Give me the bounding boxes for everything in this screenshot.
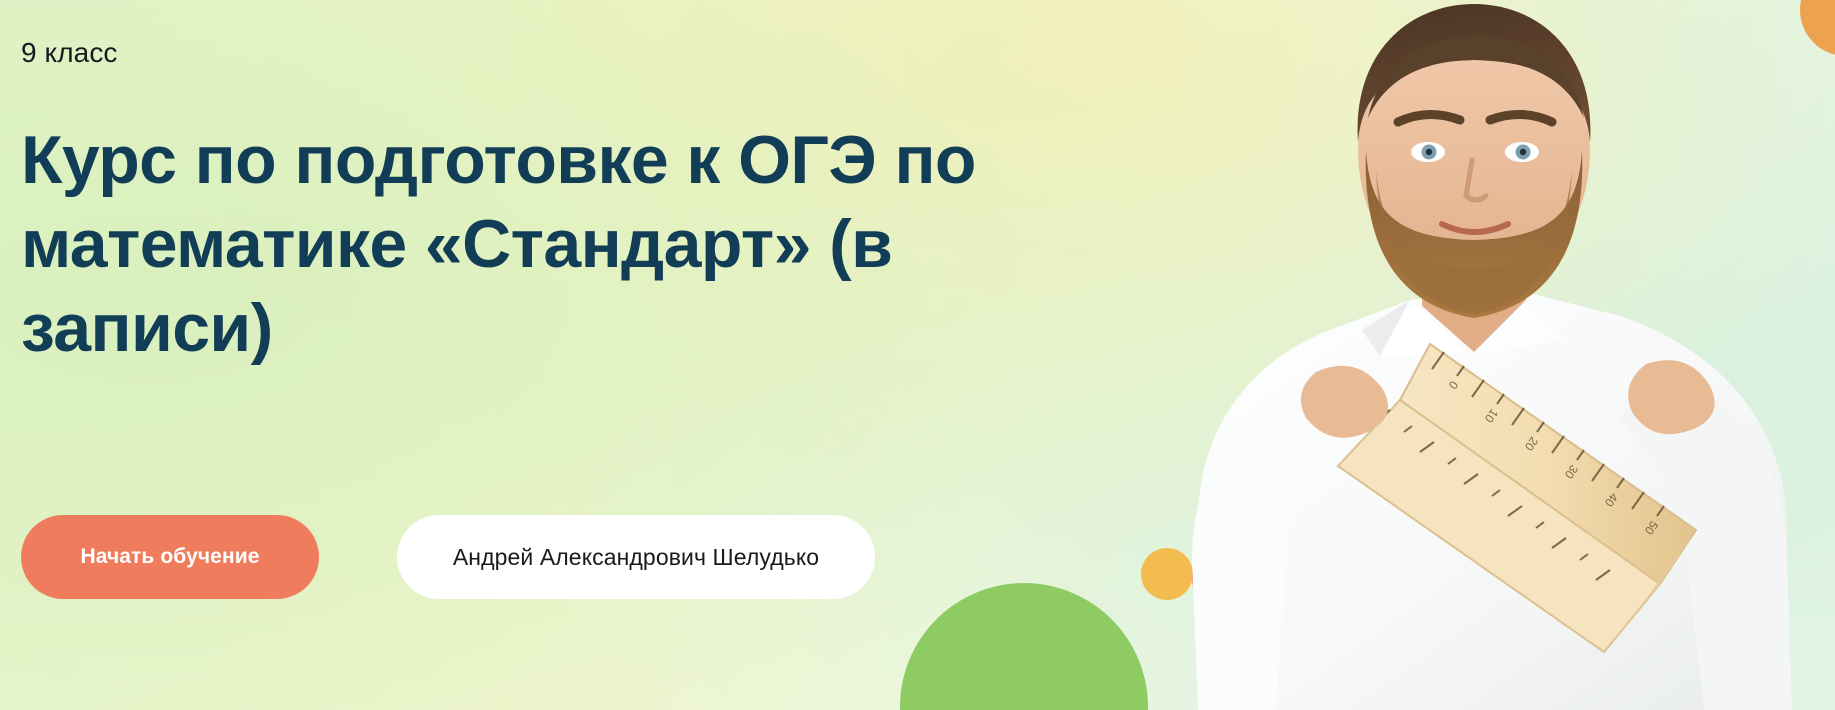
teacher-photo: 0 10 20 30 40 50 xyxy=(1080,0,1835,710)
svg-text:30: 30 xyxy=(1562,462,1581,481)
start-learning-button[interactable]: Начать обучение xyxy=(21,515,319,599)
cta-row: Начать обучение Андрей Александрович Шел… xyxy=(21,515,875,599)
yellow-circle-icon xyxy=(1141,548,1193,600)
orange-circle-icon xyxy=(1192,530,1286,624)
grade-label: 9 класс xyxy=(21,36,118,70)
svg-text:50: 50 xyxy=(1642,518,1661,537)
teacher-name-pill[interactable]: Андрей Александрович Шелудько xyxy=(397,515,875,599)
svg-text:40: 40 xyxy=(1602,490,1621,509)
page-title: Курс по подготовке к ОГЭ по математике «… xyxy=(21,118,1096,370)
svg-text:10: 10 xyxy=(1482,406,1501,425)
course-hero-banner: 0 10 20 30 40 50 9 класс Курс по подгото… xyxy=(0,0,1835,710)
svg-text:20: 20 xyxy=(1522,434,1541,453)
amber-corner-circle-icon xyxy=(1800,0,1835,56)
hero-content: 9 класс Курс по подготовке к ОГЭ по мате… xyxy=(21,0,1111,710)
svg-text:0: 0 xyxy=(1446,378,1461,392)
